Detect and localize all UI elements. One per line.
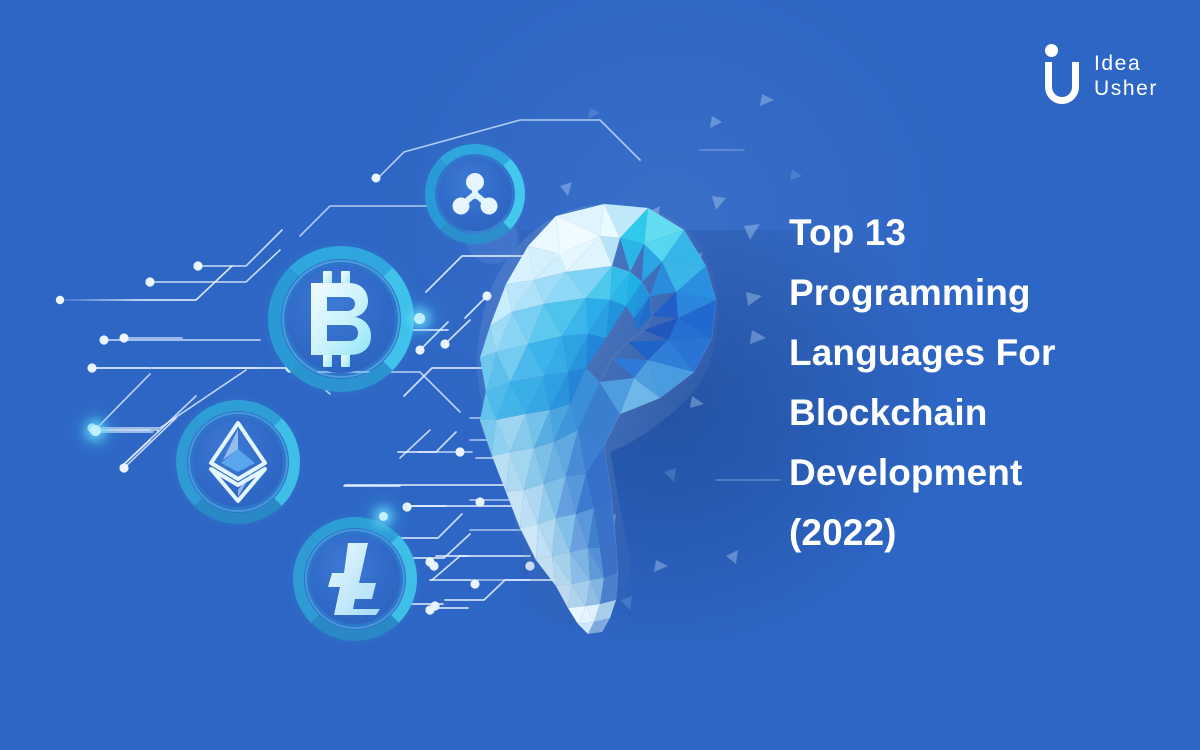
low-poly-padlock-graphic bbox=[477, 204, 718, 634]
brand-logo[interactable]: Idea Usher bbox=[1045, 40, 1158, 106]
bitcoin-icon bbox=[262, 240, 420, 398]
ethereum-badge bbox=[171, 395, 305, 529]
title-line-4: Blockchain bbox=[789, 383, 1159, 443]
title-line-2: Programming bbox=[789, 263, 1159, 323]
blog-banner: Idea Usher Top 13 Programming Languages … bbox=[0, 0, 1200, 750]
title-line-5: Development bbox=[789, 443, 1159, 503]
logo-line-idea: Idea bbox=[1094, 53, 1158, 75]
glow-node-dot-left bbox=[90, 425, 101, 436]
blockchain-node-icon bbox=[421, 140, 529, 248]
logo-wordmark: Idea Usher bbox=[1094, 47, 1158, 100]
logo-u-shape bbox=[1045, 62, 1079, 104]
title-line-1: Top 13 bbox=[789, 203, 1159, 263]
glow-node-dot-btc-left bbox=[414, 313, 425, 324]
logo-line-usher: Usher bbox=[1094, 78, 1158, 100]
ethereum-icon bbox=[171, 395, 305, 529]
title-line-6: (2022) bbox=[789, 503, 1159, 563]
litecoin-icon bbox=[288, 512, 422, 646]
logo-dot bbox=[1045, 44, 1058, 57]
title-line-3: Languages For bbox=[789, 323, 1159, 383]
idea-usher-u-monogram-icon bbox=[1045, 42, 1085, 104]
litecoin-badge bbox=[288, 512, 422, 646]
page-title: Top 13 Programming Languages For Blockch… bbox=[789, 203, 1159, 563]
bitcoin-badge bbox=[262, 240, 420, 398]
blockchain-node-badge bbox=[421, 140, 529, 248]
glow-node-dot-ltc bbox=[379, 512, 388, 521]
